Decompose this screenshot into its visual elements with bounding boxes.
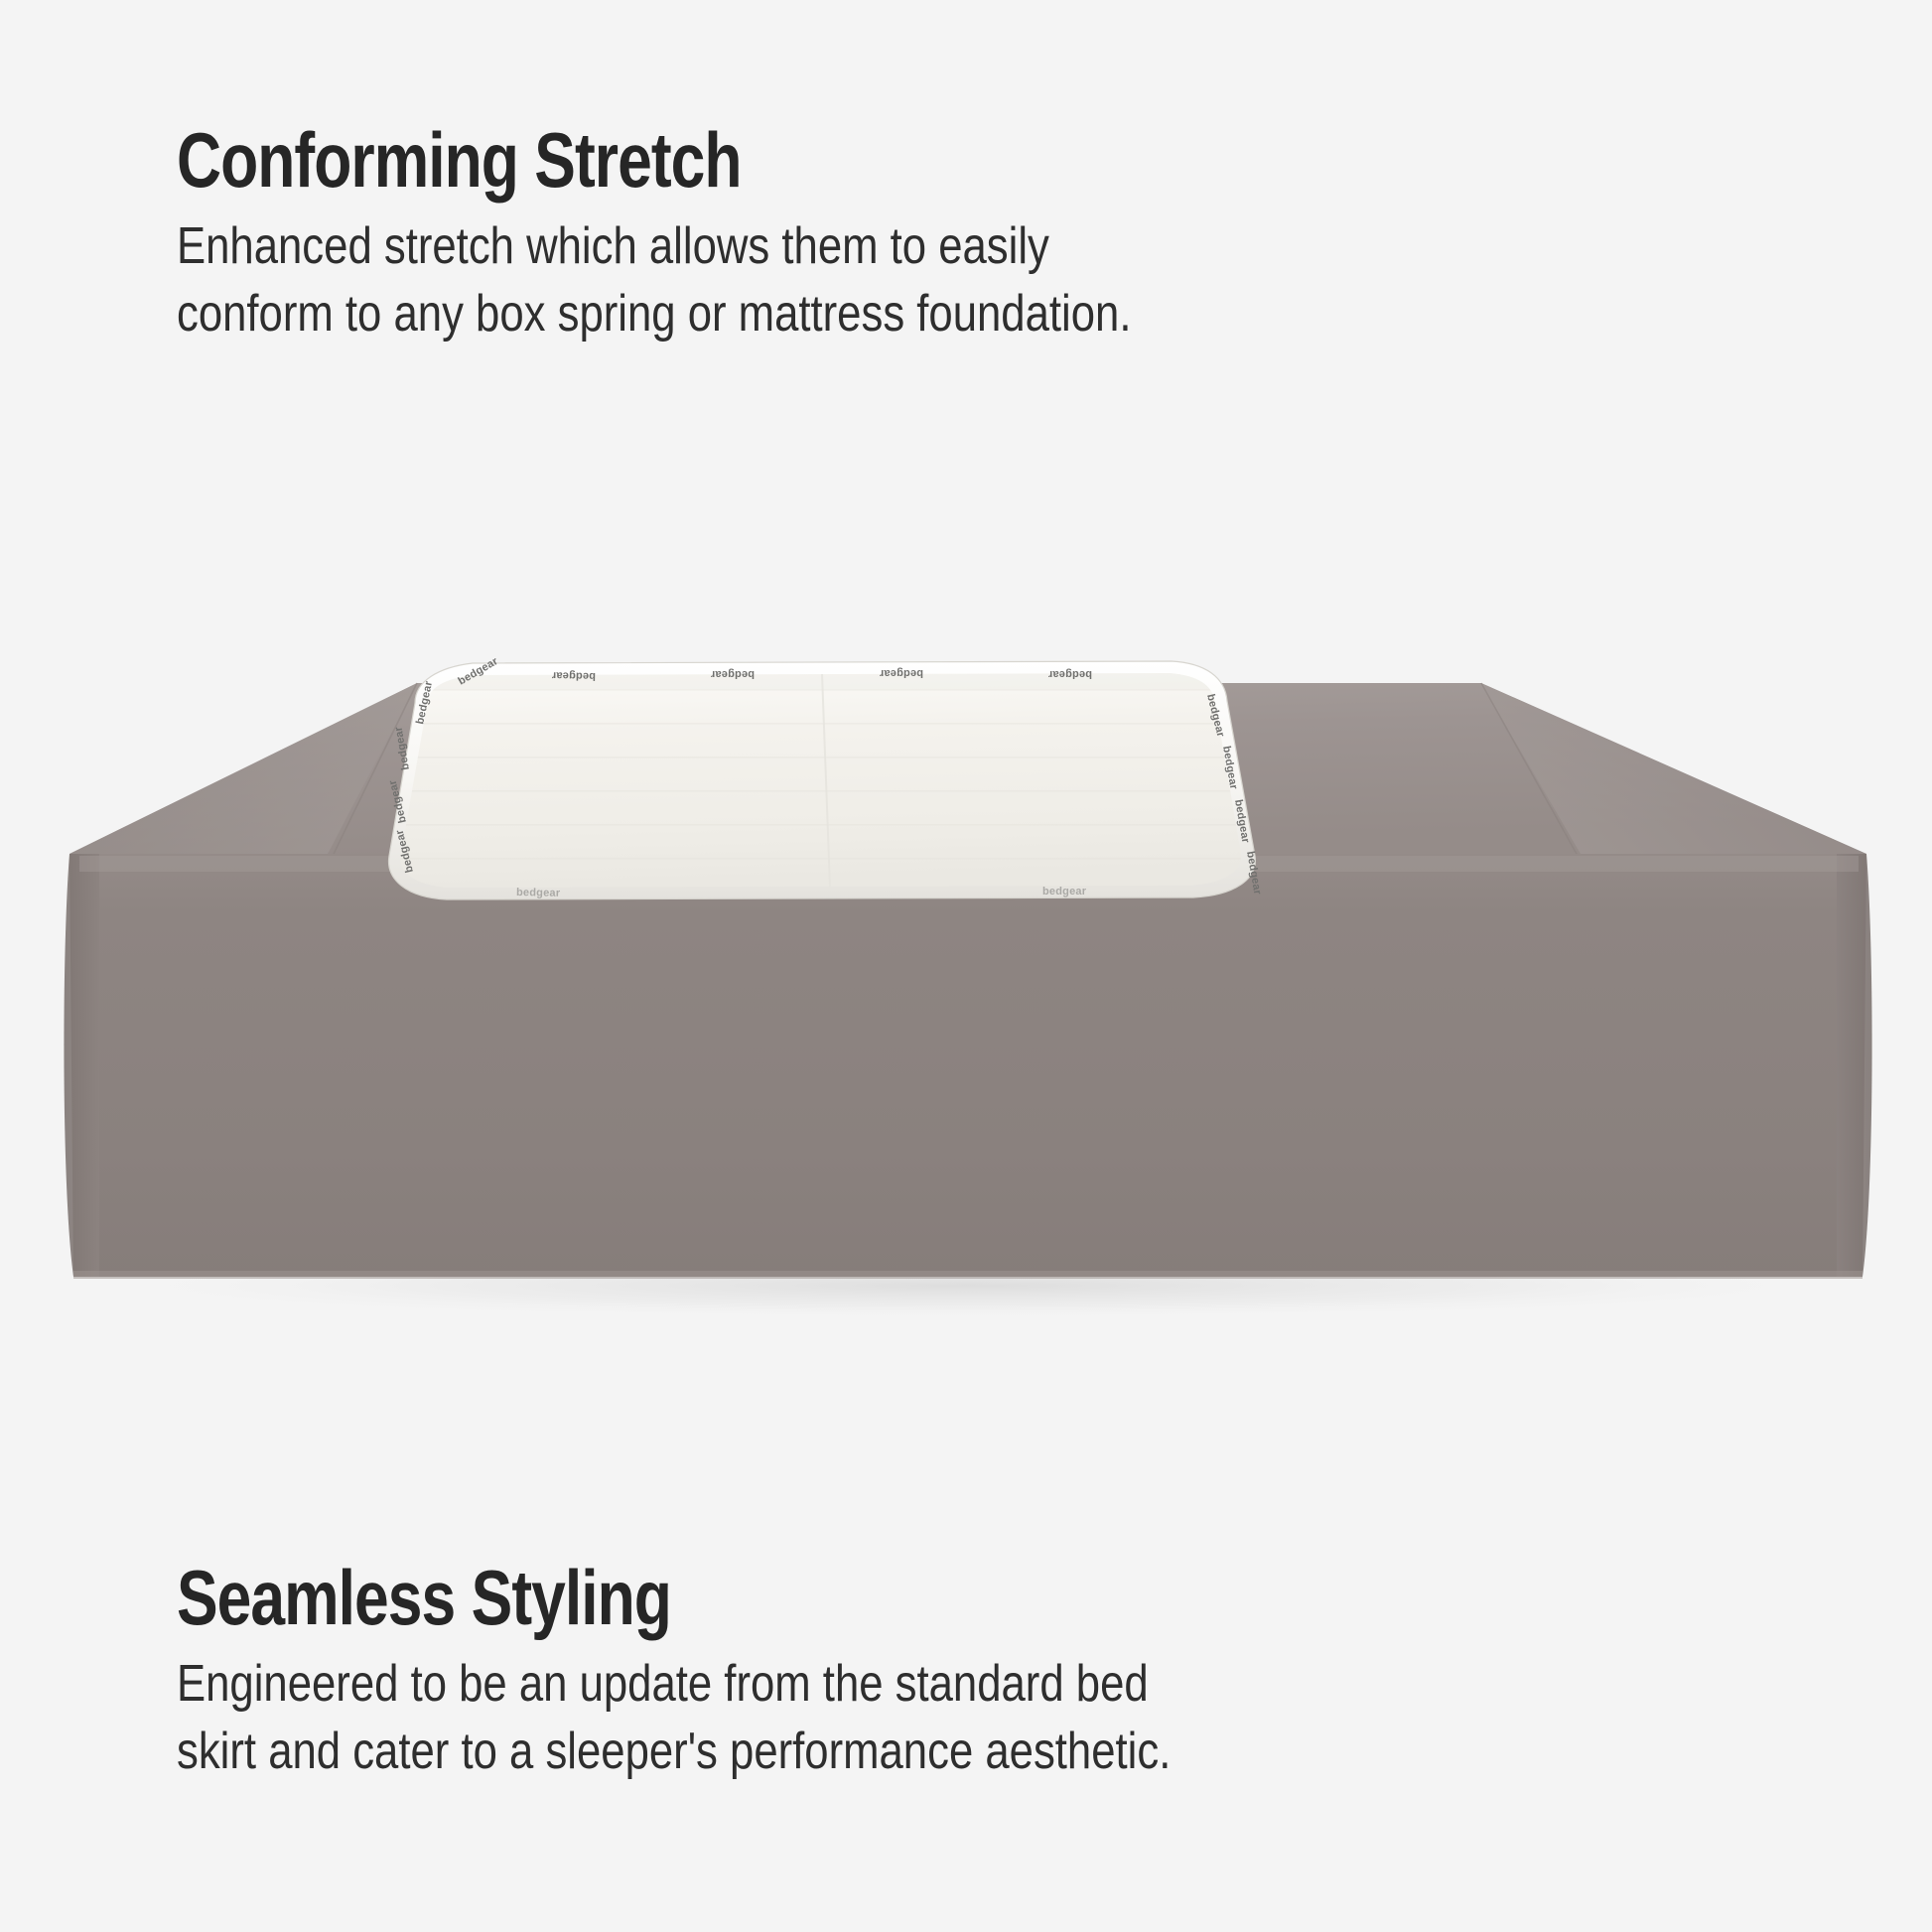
bottom-feature-body-line-1: Engineered to be an update from the stan… bbox=[177, 1650, 1171, 1718]
top-feature-block: Conforming Stretch Enhanced stretch whic… bbox=[177, 117, 1313, 347]
cover-front-right-corner bbox=[1837, 854, 1872, 1277]
brand-label: bedgear bbox=[879, 667, 923, 679]
cover-front-left-corner bbox=[64, 854, 99, 1277]
product-photo: bedgear bedgear bedgear bedgear bedgear … bbox=[0, 556, 1932, 1370]
top-feature-body: Enhanced stretch which allows them to ea… bbox=[177, 212, 1131, 347]
cover-front-face bbox=[69, 854, 1866, 1277]
top-feature-body-line-2: conform to any box spring or mattress fo… bbox=[177, 280, 1131, 347]
quilting-texture bbox=[387, 655, 1271, 913]
bottom-feature-heading: Seamless Styling bbox=[177, 1555, 1124, 1640]
box-spring-illustration: bedgear bedgear bedgear bedgear bedgear … bbox=[0, 556, 1932, 1370]
top-feature-body-line-1: Enhanced stretch which allows them to ea… bbox=[177, 212, 1131, 280]
brand-label: bedgear bbox=[1042, 886, 1087, 897]
brand-label: bedgear bbox=[710, 668, 755, 680]
bottom-feature-block: Seamless Styling Engineered to be an upd… bbox=[177, 1555, 1360, 1785]
front-face-bottom-edge bbox=[73, 1271, 1863, 1279]
brand-label: bedgear bbox=[551, 669, 596, 682]
bottom-feature-body: Engineered to be an update from the stan… bbox=[177, 1650, 1171, 1785]
top-feature-heading: Conforming Stretch bbox=[177, 117, 1086, 203]
brand-label: bedgear bbox=[516, 887, 561, 899]
infographic-page: Conforming Stretch Enhanced stretch whic… bbox=[0, 0, 1932, 1932]
brand-label: bedgear bbox=[1047, 668, 1092, 680]
bottom-feature-body-line-2: skirt and cater to a sleeper's performan… bbox=[177, 1718, 1171, 1785]
